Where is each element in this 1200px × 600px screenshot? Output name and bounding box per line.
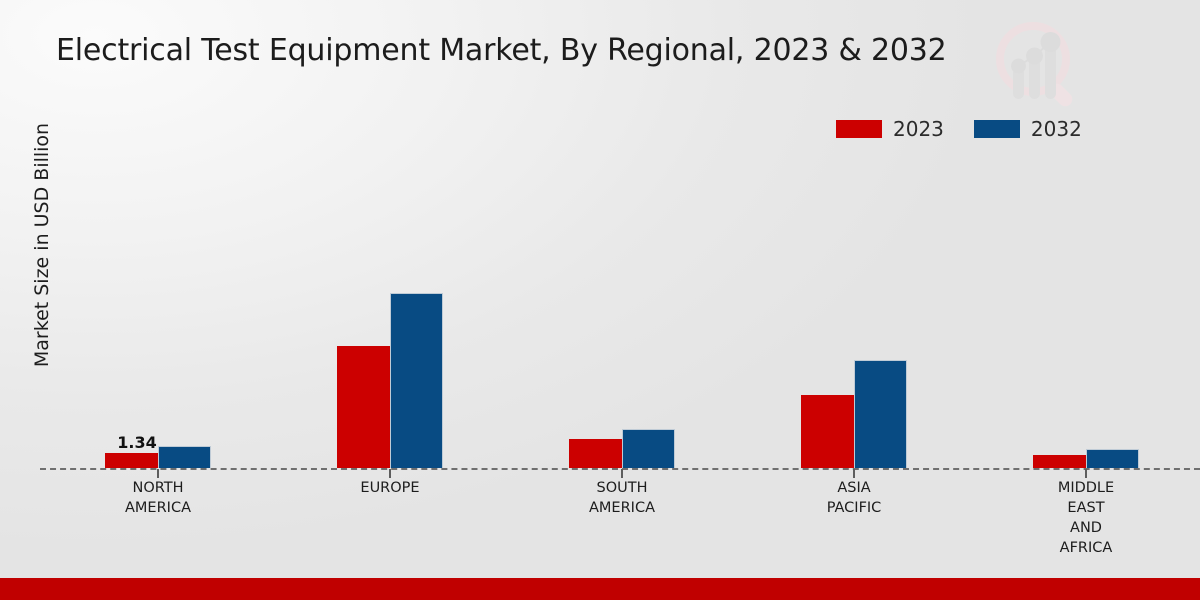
x-axis-label-line: AMERICA [48, 498, 268, 518]
chart-canvas: Electrical Test Equipment Market, By Reg… [0, 0, 1200, 600]
x-axis-tick-3 [853, 469, 855, 478]
x-axis-tick-2 [621, 469, 623, 478]
x-axis-tick-4 [1085, 469, 1087, 478]
x-axis-label-2: SOUTHAMERICA [512, 478, 732, 518]
x-axis-label-4: MIDDLEEASTANDAFRICA [976, 478, 1196, 558]
x-axis-tick-0 [157, 469, 159, 478]
x-axis-label-line: EAST [976, 498, 1196, 518]
x-axis-baseline [40, 468, 1200, 470]
bar-2032-3[interactable] [854, 360, 907, 468]
x-axis-label-1: EUROPE [280, 478, 500, 498]
bar-2023-2[interactable] [569, 439, 622, 468]
x-axis-label-line: AMERICA [512, 498, 732, 518]
x-axis-label-line: EUROPE [280, 478, 500, 498]
bar-2032-4[interactable] [1086, 449, 1139, 468]
x-axis-label-line: MIDDLE [976, 478, 1196, 498]
bar-2023-3[interactable] [801, 395, 854, 468]
plot-area: NORTHAMERICA1.34EUROPESOUTHAMERICAASIAPA… [0, 0, 1200, 600]
bar-2032-1[interactable] [390, 293, 443, 468]
x-axis-tick-1 [389, 469, 391, 478]
x-axis-label-line: AND [976, 518, 1196, 538]
x-axis-label-line: ASIA [744, 478, 964, 498]
x-axis-label-line: PACIFIC [744, 498, 964, 518]
footer-accent-bar [0, 578, 1200, 600]
x-axis-label-3: ASIAPACIFIC [744, 478, 964, 518]
x-axis-label-0: NORTHAMERICA [48, 478, 268, 518]
x-axis-label-line: NORTH [48, 478, 268, 498]
bar-value-label-0: 1.34 [97, 433, 177, 452]
bar-2023-1[interactable] [337, 346, 390, 468]
bar-2032-2[interactable] [622, 429, 675, 468]
bar-2023-0[interactable] [105, 453, 158, 468]
x-axis-label-line: SOUTH [512, 478, 732, 498]
x-axis-label-line: AFRICA [976, 538, 1196, 558]
bar-2023-4[interactable] [1033, 455, 1086, 468]
